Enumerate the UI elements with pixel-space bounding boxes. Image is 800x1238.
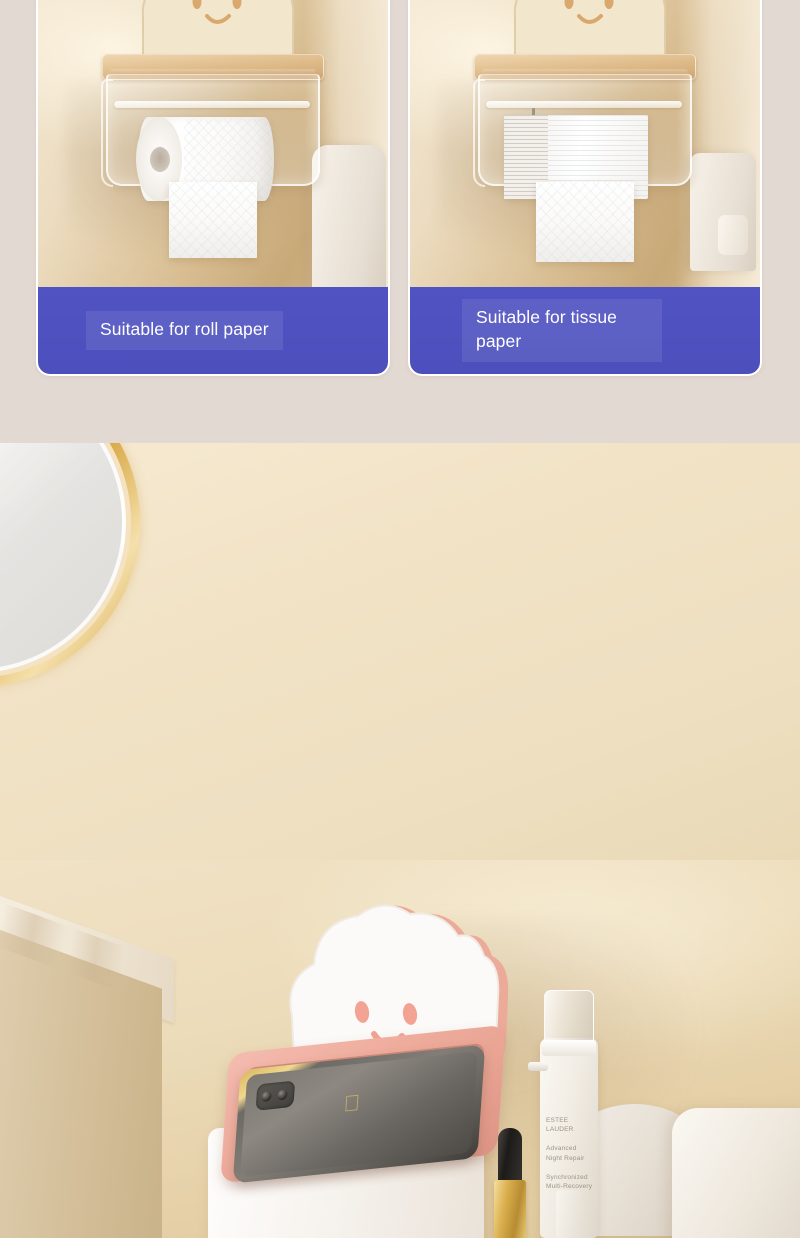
bottle-cap — [544, 990, 594, 1046]
bathroom-fixture-cap — [718, 215, 748, 255]
caption-label-roll-paper: Suitable for roll paper — [100, 318, 269, 341]
lipstick — [494, 1128, 526, 1238]
lipstick-cap — [498, 1128, 522, 1184]
acrylic-body — [478, 74, 692, 186]
bathroom-fixture — [312, 145, 386, 289]
comparison-card-tissue-paper[interactable]: Suitable for tissue paper — [408, 0, 762, 376]
product-photo-roll-paper — [38, 0, 388, 289]
lipstick-base — [494, 1180, 526, 1238]
holder-rail — [114, 101, 310, 108]
comparison-card-row: Suitable for roll paper — [36, 0, 766, 376]
dropper-bottle — [556, 1190, 582, 1238]
caption-bar-tissue-paper: Suitable for tissue paper — [410, 287, 760, 374]
background-fixture — [672, 1108, 800, 1238]
bottle-label: ESTEELAUDERAdvancedNight RepairSynchroni… — [546, 1116, 594, 1191]
lifestyle-photo-section:  ESTEELAUDERAdvancedNight RepairSynchro… — [0, 860, 800, 1238]
cloud-back-panel-icon — [485, 0, 685, 62]
roll-core — [150, 147, 170, 172]
bottle-collar — [542, 1040, 596, 1056]
caption-highlight-box: Suitable for roll paper — [86, 311, 283, 350]
acrylic-holder-tissue — [478, 54, 692, 194]
product-photo-tissue-paper — [410, 0, 760, 289]
comparison-card-roll-paper[interactable]: Suitable for roll paper — [36, 0, 390, 376]
product-detail-page: Suitable for roll paper — [0, 0, 800, 1238]
hanging-paper-sheet — [536, 182, 634, 262]
acrylic-holder-roll — [106, 54, 320, 194]
phone-camera-icon — [256, 1080, 296, 1110]
caption-bar-roll-paper: Suitable for roll paper — [38, 287, 388, 374]
caption-label-tissue-paper: Suitable for tissue paper — [476, 306, 648, 353]
holder-rail — [486, 101, 682, 108]
hanging-paper-sheet — [169, 182, 257, 258]
cloud-back-panel-icon — [113, 0, 313, 62]
caption-highlight-box: Suitable for tissue paper — [462, 299, 662, 362]
comparison-section: Suitable for roll paper — [0, 0, 800, 443]
apple-logo-icon:  — [340, 1089, 364, 1118]
bottle-nozzle — [528, 1062, 548, 1071]
acrylic-body — [106, 74, 320, 186]
bathroom-fixture — [690, 153, 756, 271]
